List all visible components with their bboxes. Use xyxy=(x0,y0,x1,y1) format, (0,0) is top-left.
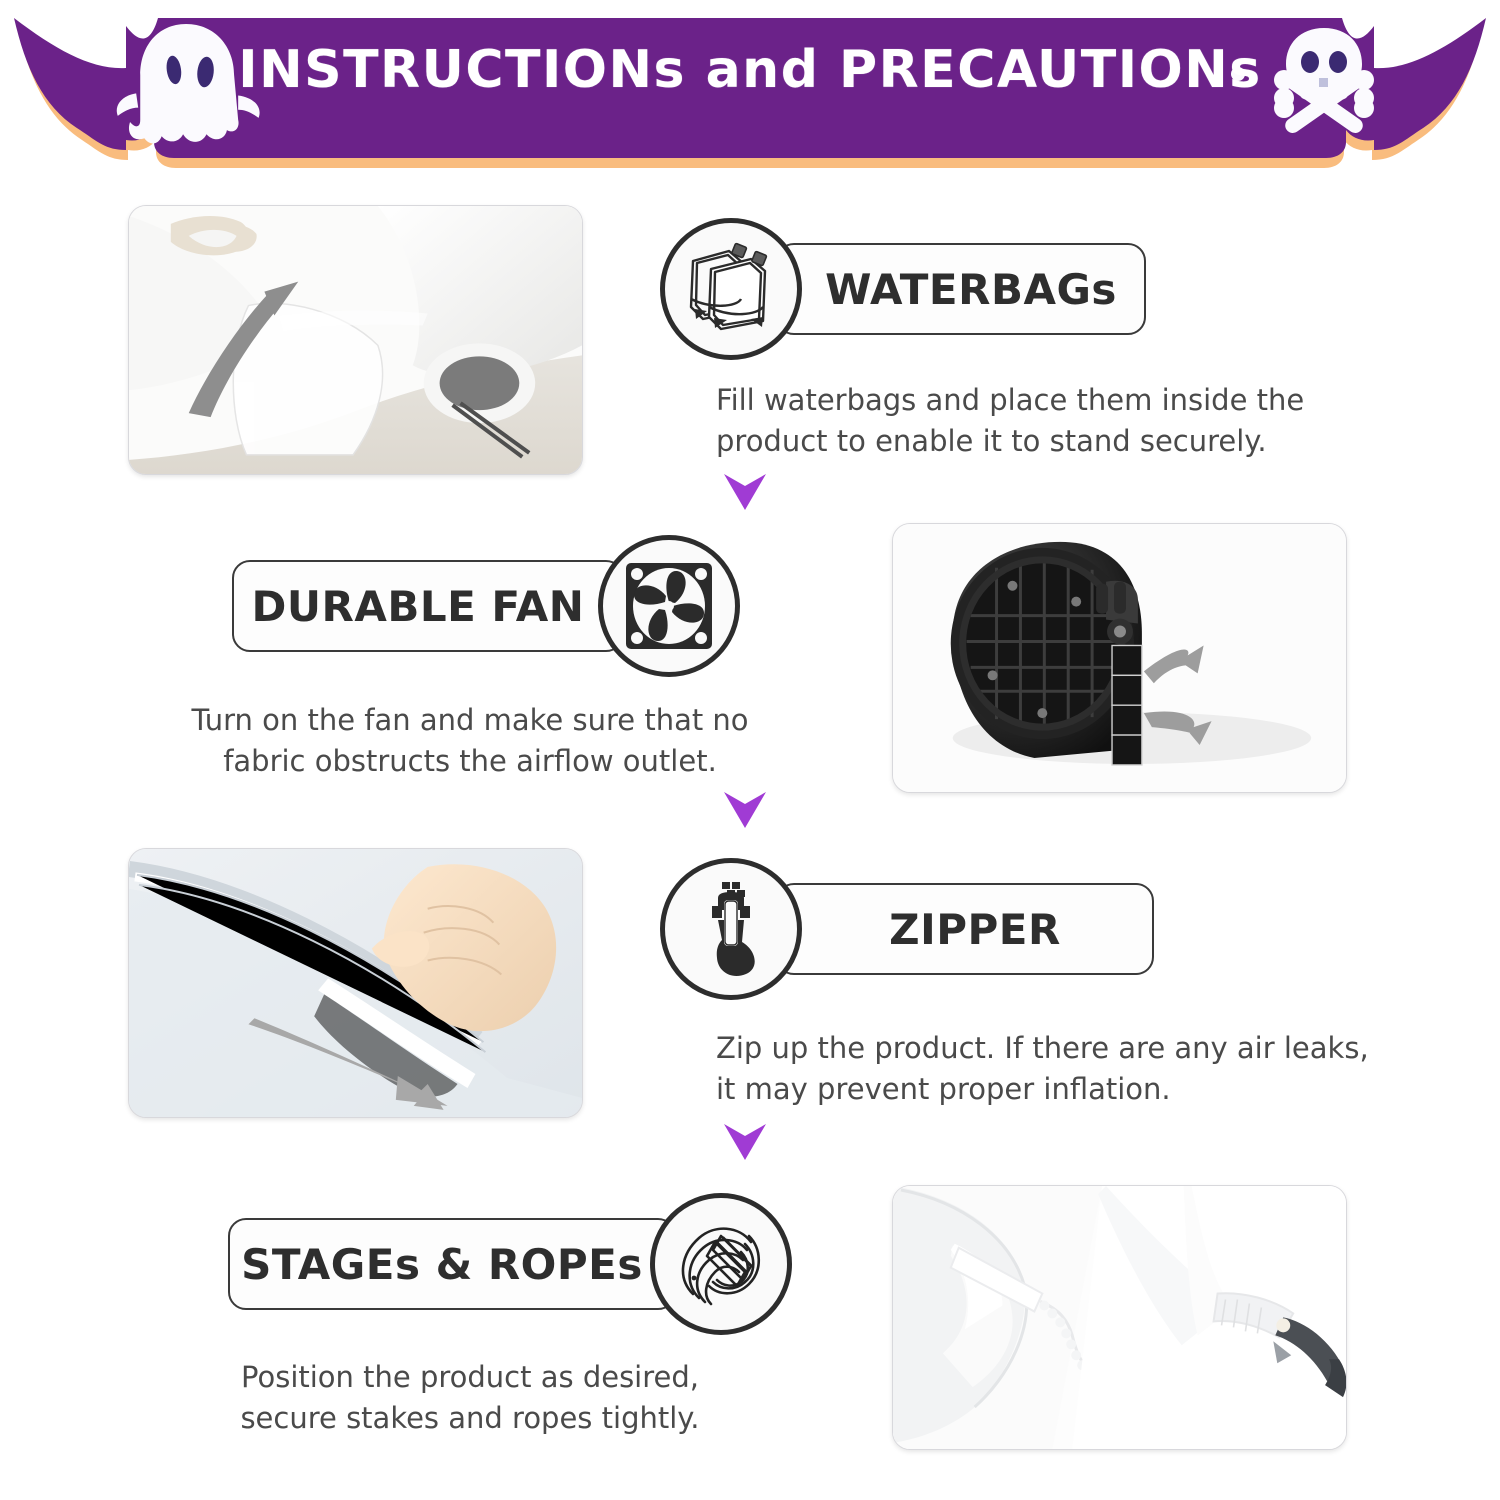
label-pill-fan: DURABLE FAN xyxy=(232,560,624,652)
zipper-glyph xyxy=(682,880,780,978)
zipper-pull-icon xyxy=(660,858,802,1000)
rope-glyph xyxy=(671,1214,771,1314)
header-zipper: ZIPPER xyxy=(660,858,1154,1000)
photo-zipper-closing xyxy=(128,848,583,1118)
fan-icon xyxy=(598,535,740,677)
header-stages-ropes: STAGEs & ROPEs xyxy=(228,1193,792,1335)
step-label-stages-ropes: STAGEs & ROPEs xyxy=(241,1240,643,1289)
photo-waterbag-filling xyxy=(128,205,583,475)
step-row-fan: DURABLE FAN xyxy=(0,515,1500,815)
header-fan: DURABLE FAN xyxy=(232,535,740,677)
label-pill-zipper: ZIPPER xyxy=(776,883,1154,975)
header-waterbags: WATERBAGs xyxy=(660,218,1146,360)
step-caption-waterbags: Fill waterbags and place them inside the… xyxy=(716,380,1416,462)
step-row-stages-ropes: STAGEs & ROPEs xyxy=(0,1175,1500,1475)
header-banner: INSTRUCTIONs and PRECAUTIONs xyxy=(0,0,1500,175)
photo-blower-fan xyxy=(892,523,1347,793)
step-label-fan: DURABLE FAN xyxy=(252,582,585,631)
step-row-zipper: ZIPPER Zip up the product. If there are … xyxy=(0,840,1500,1140)
step-label-zipper: ZIPPER xyxy=(889,905,1061,954)
step-row-waterbags: WATERBAGs Fill waterbags and place them … xyxy=(0,200,1500,500)
flow-arrow-2 xyxy=(722,790,768,830)
waterbags-icon xyxy=(660,218,802,360)
flow-arrow-1 xyxy=(722,472,768,512)
step-caption-stages-ropes: Position the product as desired, secure … xyxy=(120,1357,820,1439)
page-title: INSTRUCTIONs and PRECAUTIONs xyxy=(0,22,1500,118)
step-caption-fan: Turn on the fan and make sure that no fa… xyxy=(120,700,820,782)
instructions-page: INSTRUCTIONs and PRECAUTIONs xyxy=(0,0,1500,1500)
flow-arrow-3 xyxy=(722,1122,768,1162)
fan-glyph xyxy=(620,557,718,655)
photo-stakes-and-ropes xyxy=(892,1185,1347,1450)
label-pill-stages-ropes: STAGEs & ROPEs xyxy=(228,1218,676,1310)
step-label-waterbags: WATERBAGs xyxy=(825,265,1117,314)
step-caption-zipper: Zip up the product. If there are any air… xyxy=(716,1028,1476,1110)
rope-coil-icon xyxy=(650,1193,792,1335)
waterbags-glyph xyxy=(681,239,781,339)
label-pill-waterbags: WATERBAGs xyxy=(776,243,1146,335)
